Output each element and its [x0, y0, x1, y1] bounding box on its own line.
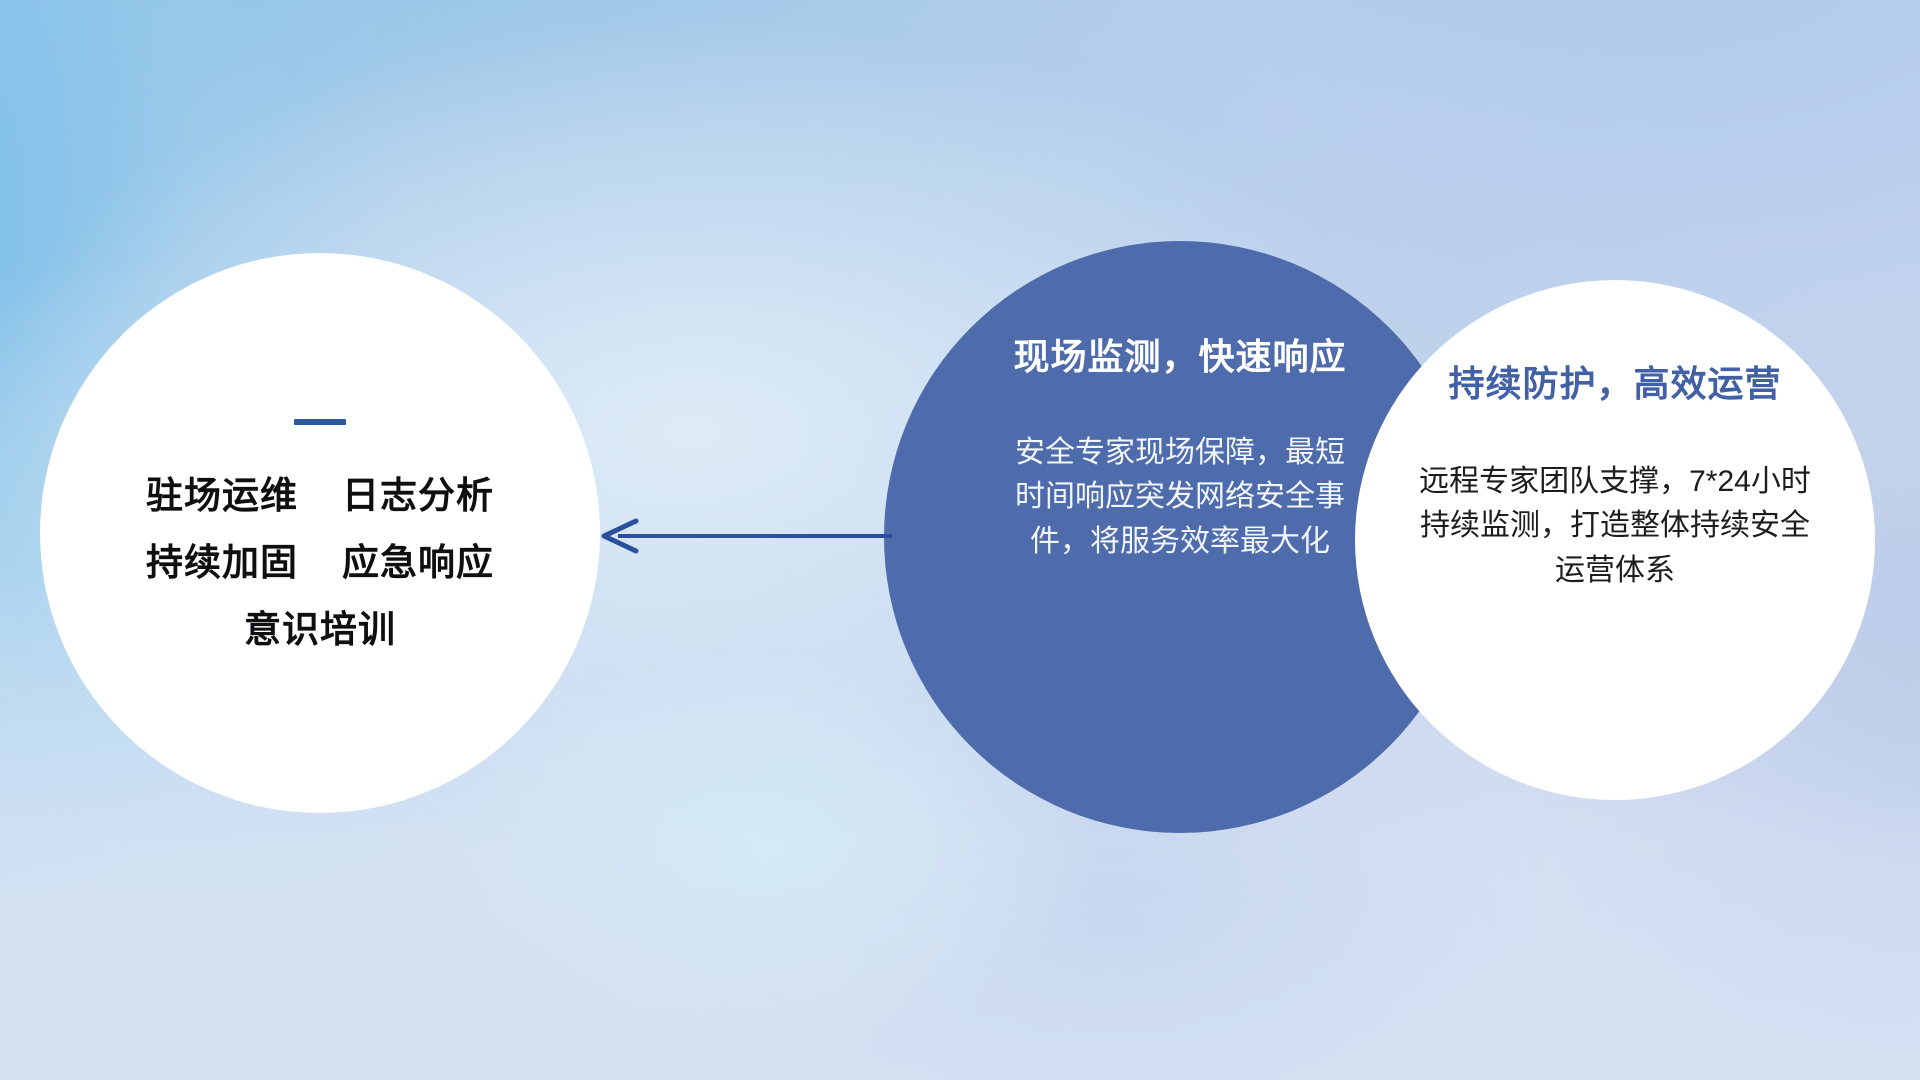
slide-canvas: 驻场运维 日志分析 持续加固 应急响应 意识培训 现场监测，快速响应 安全专家现…: [0, 0, 1920, 1080]
services-row: 驻场运维 日志分析: [146, 477, 494, 514]
onsite-title: 现场监测，快速响应: [1013, 339, 1346, 375]
service-item-label: 意识培训: [244, 611, 396, 648]
service-item-label: 应急响应: [342, 544, 494, 581]
onsite-body-text: 安全专家现场保障，最短时间响应突发网络安全事件，将服务效率最大化: [1015, 431, 1345, 564]
services-row: 意识培训: [244, 611, 396, 648]
continuous-title: 持续防护，高效运营: [1448, 366, 1781, 402]
services-list: 驻场运维 日志分析 持续加固 应急响应 意识培训: [146, 477, 494, 648]
service-item-label: 日志分析: [342, 477, 494, 514]
continuous-protection-circle: 持续防护，高效运营 远程专家团队支撑，7*24小时持续监测，打造整体持续安全运营…: [1355, 280, 1875, 800]
continuous-body-text: 远程专家团队支撑，7*24小时持续监测，打造整体持续安全运营体系: [1415, 460, 1815, 593]
services-row: 持续加固 应急响应: [146, 544, 494, 581]
flow-arrow-left-icon: [596, 512, 896, 560]
services-circle: 驻场运维 日志分析 持续加固 应急响应 意识培训: [40, 253, 600, 813]
divider-dash-icon: [294, 419, 346, 425]
service-item-label: 持续加固: [146, 544, 298, 581]
service-item-label: 驻场运维: [146, 477, 298, 514]
